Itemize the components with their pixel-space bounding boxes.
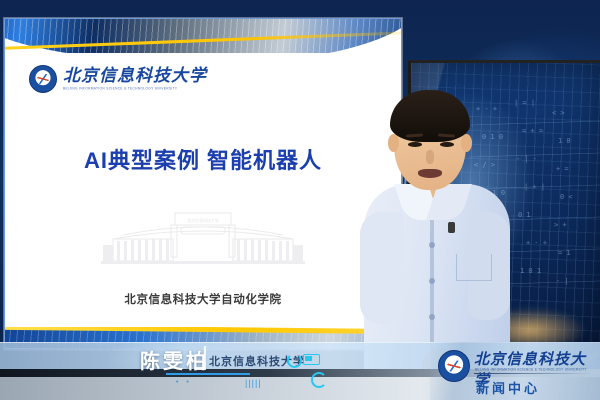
presenter-lapel-mic [448,222,455,233]
battery-icon [303,354,320,365]
university-crest-icon [438,350,470,382]
slide-top-banner [5,19,401,53]
presenter-shirt-pocket [456,254,492,281]
campus-gate-watermark: 北京信息科技大学 [83,205,323,277]
channel-bug: 北京信息科技大学 BEIJING INFORMATION SCIENCE & T… [430,342,600,400]
logo-name-cn: 北京信息科技大学 [63,67,207,84]
presentation-slide: 北京信息科技大学 BEIJING INFORMATION SCIENCE & T… [4,18,402,350]
slide-subtitle: 北京信息科技大学自动化学院 [5,291,401,307]
presenter-shirt-button [429,278,435,284]
lower-third-ticks: ||||| [245,378,262,388]
lower-third-dots: • • [176,379,192,386]
channel-bug-name-en: BEIJING INFORMATION SCIENCE & TECHNOLOGY… [475,367,587,372]
refresh-circle-icon [311,372,327,388]
presenter-hair [390,90,470,142]
presenter-eye-right [440,142,454,147]
slide-title: AI典型案例 智能机器人 [5,143,401,175]
logo-name-en: BEIJING INFORMATION SCIENCE & TECHNOLOGY… [63,87,207,91]
loading-circle-icon [287,353,302,368]
presenter-sleeve-left [360,212,404,324]
presenter-eye-left [408,142,422,147]
presenter-ear-left [388,134,399,152]
channel-bug-subtitle: 新闻中心 [476,378,540,397]
presenter-nose [426,150,434,164]
presenter-mouth [418,169,442,178]
presenter-shirt-button [429,314,435,320]
slide-university-logo: 北京信息科技大学 BEIJING INFORMATION SCIENCE & T… [29,65,207,93]
channel-bug-divider [474,373,592,374]
presenter-ear-right [461,134,472,152]
speaker-name-bracket [196,346,206,370]
svg-text:北京信息科技大学: 北京信息科技大学 [187,217,219,223]
presenter-shirt-button [429,242,435,248]
lower-third-accent-line [166,373,250,375]
university-crest-icon [29,65,57,93]
video-frame: + - +| = |< > 0 1 0= + =1 0 < / >- | -+ … [0,0,600,400]
